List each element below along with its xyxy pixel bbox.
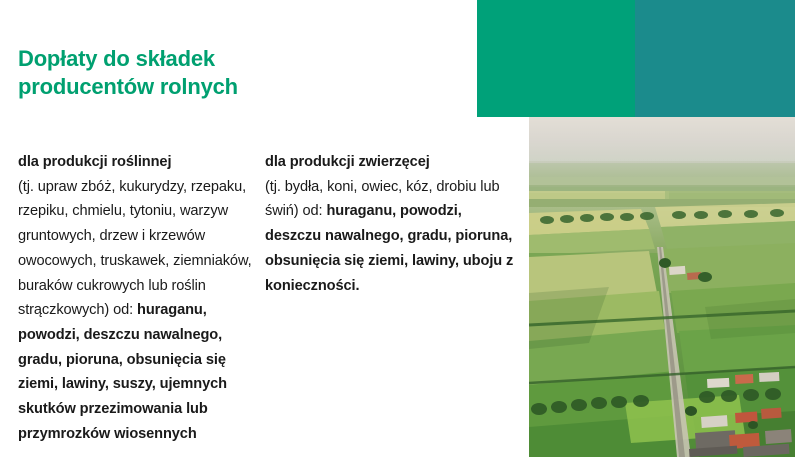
aerial-farmland-illustration bbox=[529, 117, 795, 457]
plant-production-heading: dla produkcji roślinnej bbox=[18, 154, 171, 170]
page-title-line-2: producentów rolnych bbox=[18, 73, 298, 101]
page-title-line-1: Dopłaty do składek bbox=[18, 45, 298, 73]
page-title: Dopłaty do składek producentów rolnych bbox=[18, 45, 298, 101]
column-plant-production: dla produkcji roślinnej(tj. upraw zbóż, … bbox=[18, 150, 260, 446]
animal-production-heading: dla produkcji zwierzęcej bbox=[265, 154, 430, 170]
decor-block-green bbox=[477, 0, 635, 117]
plant-production-paragraph: dla produkcji roślinnej(tj. upraw zbóż, … bbox=[18, 150, 260, 446]
slide-root: Dopłaty do składek producentów rolnych d… bbox=[0, 0, 800, 457]
decor-block-teal bbox=[635, 0, 795, 117]
animal-production-paragraph: dla produkcji zwierzęcej(tj. bydła, koni… bbox=[265, 150, 515, 298]
plant-production-body-regular: (tj. upraw zbóż, kukurydzy, rzepaku, rze… bbox=[18, 179, 252, 319]
aerial-farmland-photo bbox=[529, 117, 795, 457]
plant-production-body-bold: huraganu, powodzi, deszczu nawalnego, gr… bbox=[18, 302, 227, 442]
column-animal-production: dla produkcji zwierzęcej(tj. bydła, koni… bbox=[265, 150, 515, 298]
